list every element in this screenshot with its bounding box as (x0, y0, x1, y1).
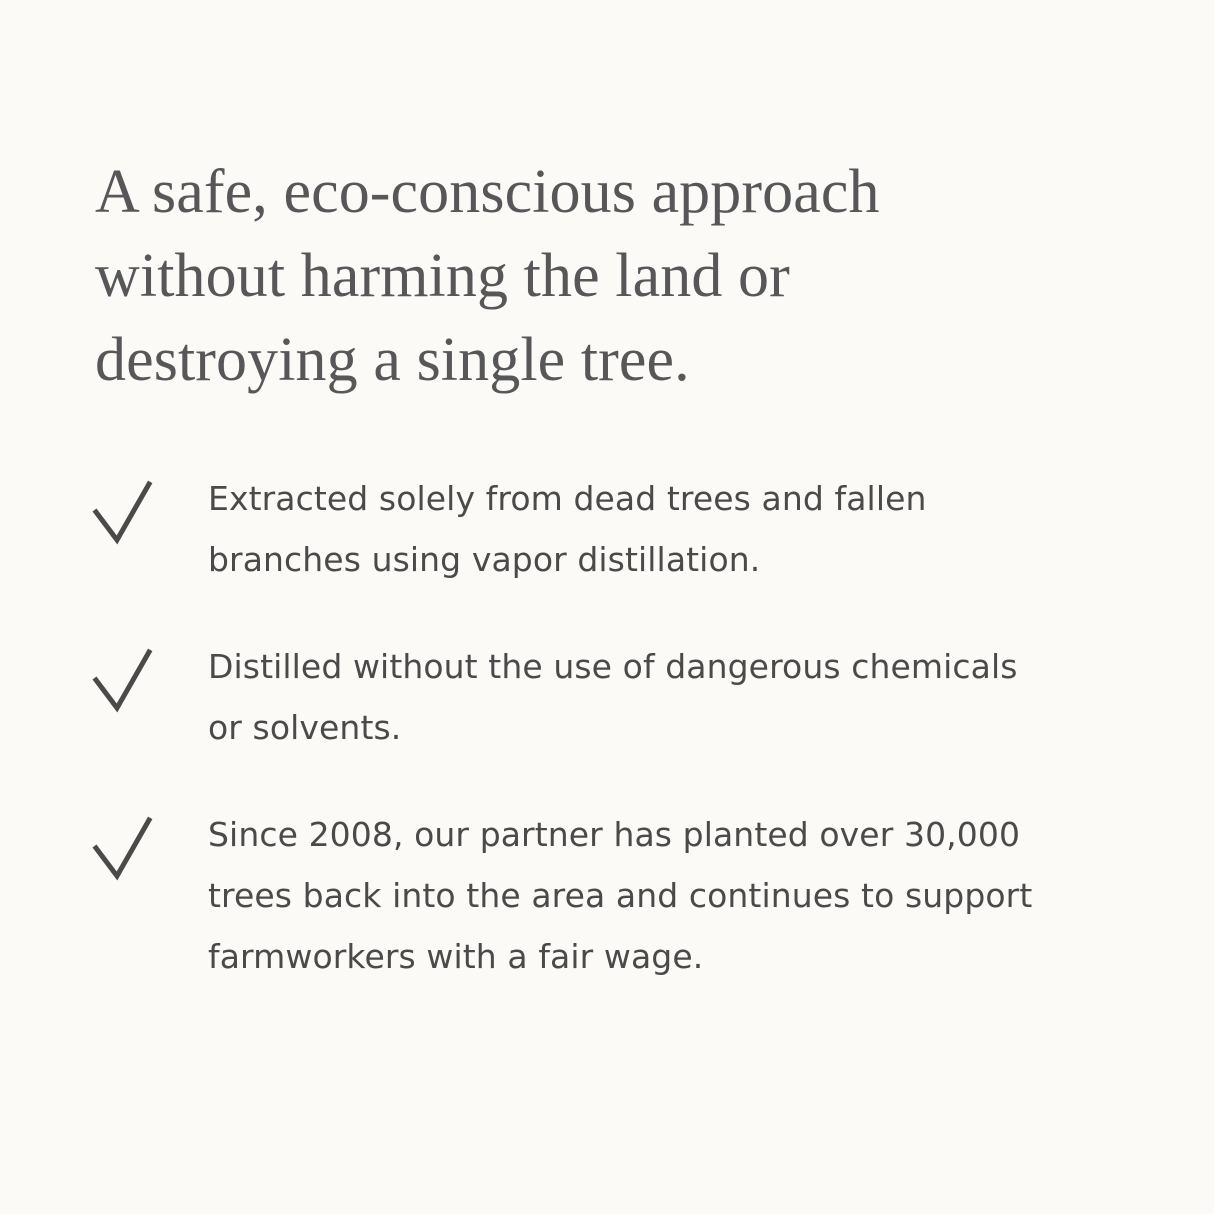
list-item: Extracted solely from dead trees and fal… (95, 468, 1055, 590)
marketing-panel: A safe, eco-conscious approach without h… (0, 0, 1214, 1214)
checkmark-icon (95, 482, 151, 544)
page-title: A safe, eco-conscious approach without h… (95, 150, 1035, 402)
benefits-list: Extracted solely from dead trees and fal… (95, 468, 1055, 987)
list-item: Distilled without the use of dangerous c… (95, 636, 1055, 758)
checkmark-icon (95, 650, 151, 712)
content-container: A safe, eco-conscious approach without h… (95, 150, 1055, 987)
list-item: Since 2008, our partner has planted over… (95, 804, 1055, 987)
list-item-label: Since 2008, our partner has planted over… (208, 804, 1036, 987)
list-item-label: Distilled without the use of dangerous c… (208, 636, 1036, 758)
list-item-label: Extracted solely from dead trees and fal… (208, 468, 1036, 590)
checkmark-icon (95, 818, 151, 880)
